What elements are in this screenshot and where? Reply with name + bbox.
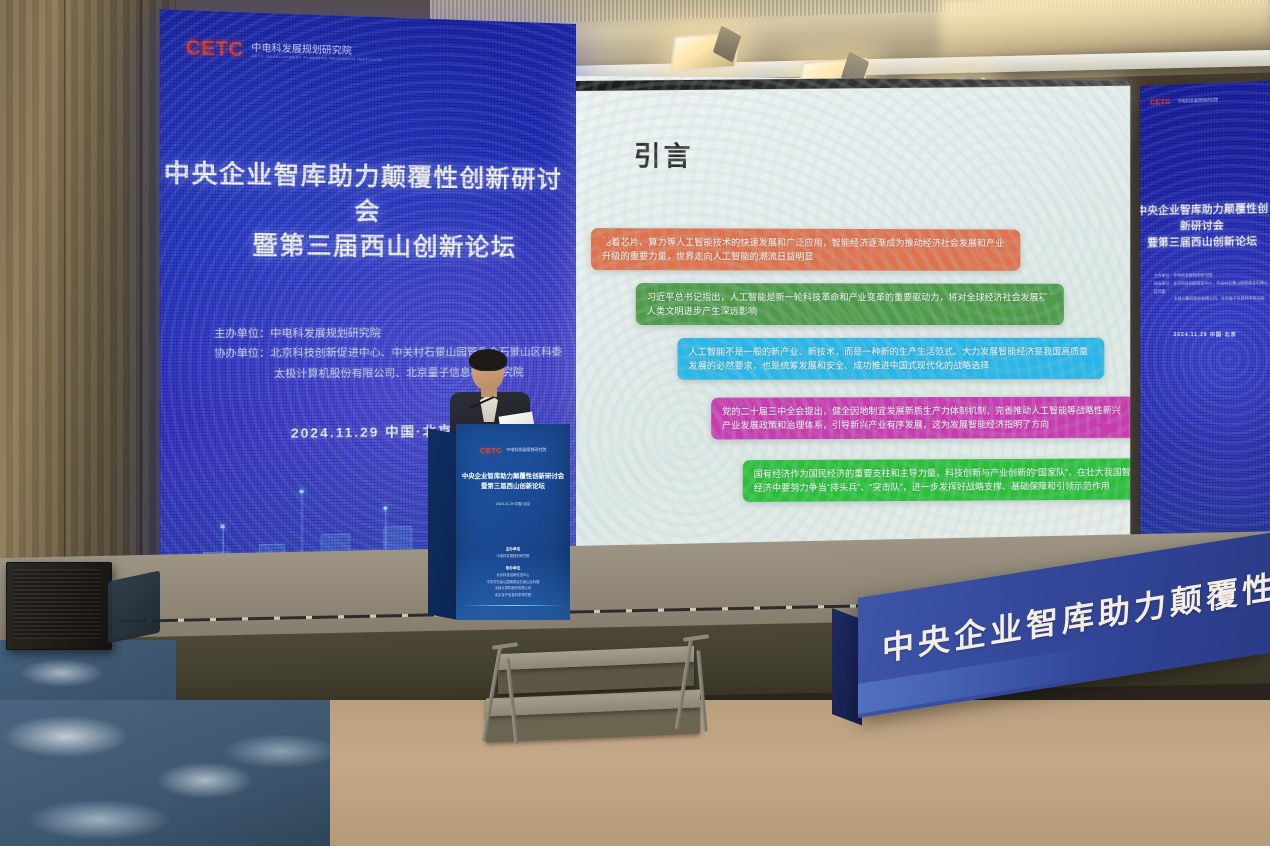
box-arrow-icon: [1096, 424, 1118, 436]
cetc-logo-mark: CETC: [186, 37, 244, 62]
right-led-screen: CETC 中电科发展规划研究院 中央企业智库助力颠覆性创新研讨会 暨第三届西山创…: [1140, 81, 1270, 562]
podium-host-head: 主办单位: [456, 546, 570, 553]
cetc-logo-mark: CETC: [480, 446, 502, 455]
podium-cohost-head: 协办单位: [456, 565, 570, 572]
stage-monitor: [108, 570, 160, 643]
right-screen-logo: CETC 中电科发展规划研究院: [1150, 97, 1218, 107]
left-screen-title: 中央企业智库助力颠覆性创新研讨会 暨第三届西山创新论坛: [160, 156, 566, 266]
podium-title-line1: 中央企业智库助力颠覆性创新研讨会: [462, 473, 564, 480]
podium-side-panel: [428, 428, 458, 620]
left-title-line1: 中央企业智库助力颠覆性创新研讨会: [164, 160, 563, 226]
right-cohost-label: 协办单位：北京科技创新促进中心、中关村石景山园管委会石景山区科委: [1154, 279, 1270, 296]
box-arrow-icon: [1040, 295, 1062, 307]
right-screen-organizers: 主办单位：中电科发展规划研究院 协办单位：北京科技创新促进中心、中关村石景山园管…: [1154, 271, 1270, 303]
podium-logo: CETC 中电科发展规划研究院: [456, 446, 570, 455]
podium-title-line2: 暨第三届西山创新论坛: [481, 483, 545, 490]
slide-text-box: 国有经济作为国民经济的重要支柱和主导力量，科技创新与产业创新的“国家队”，在壮大…: [743, 458, 1130, 502]
slide-text-box: 人工智能不是一般的新产业、新技术，而是一种新的生产生活范式。大力发展智能经济是我…: [677, 338, 1104, 380]
right-screen-title: 中央企业智库助力颠覆性创新研讨会 暨第三届西山创新论坛: [1140, 201, 1269, 251]
right-title-line2: 暨第三届西山创新论坛: [1147, 235, 1257, 249]
left-wall: [0, 0, 176, 620]
presenter-hair: [469, 349, 507, 371]
podium-date: 2024.11.29 中国·北京: [456, 502, 570, 507]
right-cohost-line2: 太极计算机股份有限公司、北京量子信息科学研究院: [1154, 295, 1270, 303]
slide-content-boxes: 随着芯片、算力等人工智能技术的快速发展和广泛应用，智能经济逐渐成为推动经济社会发…: [576, 76, 1130, 576]
left-host-label: 主办单位：中电科发展规划研究院: [214, 324, 562, 344]
podium: CETC 中电科发展规划研究院 中央企业智库助力颠覆性创新研讨会 暨第三届西山创…: [428, 420, 570, 620]
podium-organizers: 主办单位 中电科发展规划研究院 协办单位 北京科技创新促进中心 中关村石景山园管…: [456, 546, 570, 598]
patterned-carpet: [0, 700, 330, 846]
center-projection-screen: 引言 随着芯片、算力等人工智能技术的快速发展和广泛应用，智能经济逐渐成为推动经济…: [576, 76, 1130, 576]
left-title-line2: 暨第三届西山创新论坛: [160, 228, 566, 266]
right-screen-date: 2024.11.29 中国·北京: [1140, 331, 1270, 338]
stage-steps: [480, 640, 710, 770]
box-arrow-icon: [590, 238, 612, 250]
box-arrow-icon: [1078, 355, 1100, 367]
slide-text-box: 党的二十届三中全会提出，健全因地制宜发展新质生产力体制机制，完善推动人工智能等战…: [711, 397, 1130, 440]
podium-front-panel: CETC 中电科发展规划研究院 中央企业智库助力颠覆性创新研讨会 暨第三届西山创…: [456, 424, 570, 620]
right-title-line1: 中央企业智库助力颠覆性创新研讨会: [1140, 202, 1269, 232]
podium-cohost-body4: 北京量子信息科学研究院: [456, 592, 570, 598]
podium-host-body: 中电科发展规划研究院: [497, 554, 530, 558]
cetc-logo-mark: CETC: [1150, 99, 1171, 107]
slide-text-box: 习近平总书记指出，人工智能是新一轮科技革命和产业变革的重要驱动力，将对全球经济社…: [636, 283, 1064, 325]
podium-title: 中央企业智库助力颠覆性创新研讨会 暨第三届西山创新论坛: [460, 472, 566, 492]
slide-text-box: 随着芯片、算力等人工智能技术的快速发展和广泛应用，智能经济逐渐成为推动经济社会发…: [591, 228, 1020, 271]
stage-light-icon: [672, 24, 738, 72]
cetc-logo-cn: 中电科发展规划研究院: [506, 448, 546, 452]
left-screen-logo: CETC 中电科发展规划研究院 CETC DEVELOPMENT PLANNIN…: [186, 37, 382, 66]
cetc-logo-cn: 中电科发展规划研究院: [1178, 98, 1218, 104]
conference-hall-scene: CETC 中电科发展规划研究院 CETC DEVELOPMENT PLANNIN…: [0, 0, 1270, 846]
pa-speaker-cabinet: [6, 562, 112, 650]
